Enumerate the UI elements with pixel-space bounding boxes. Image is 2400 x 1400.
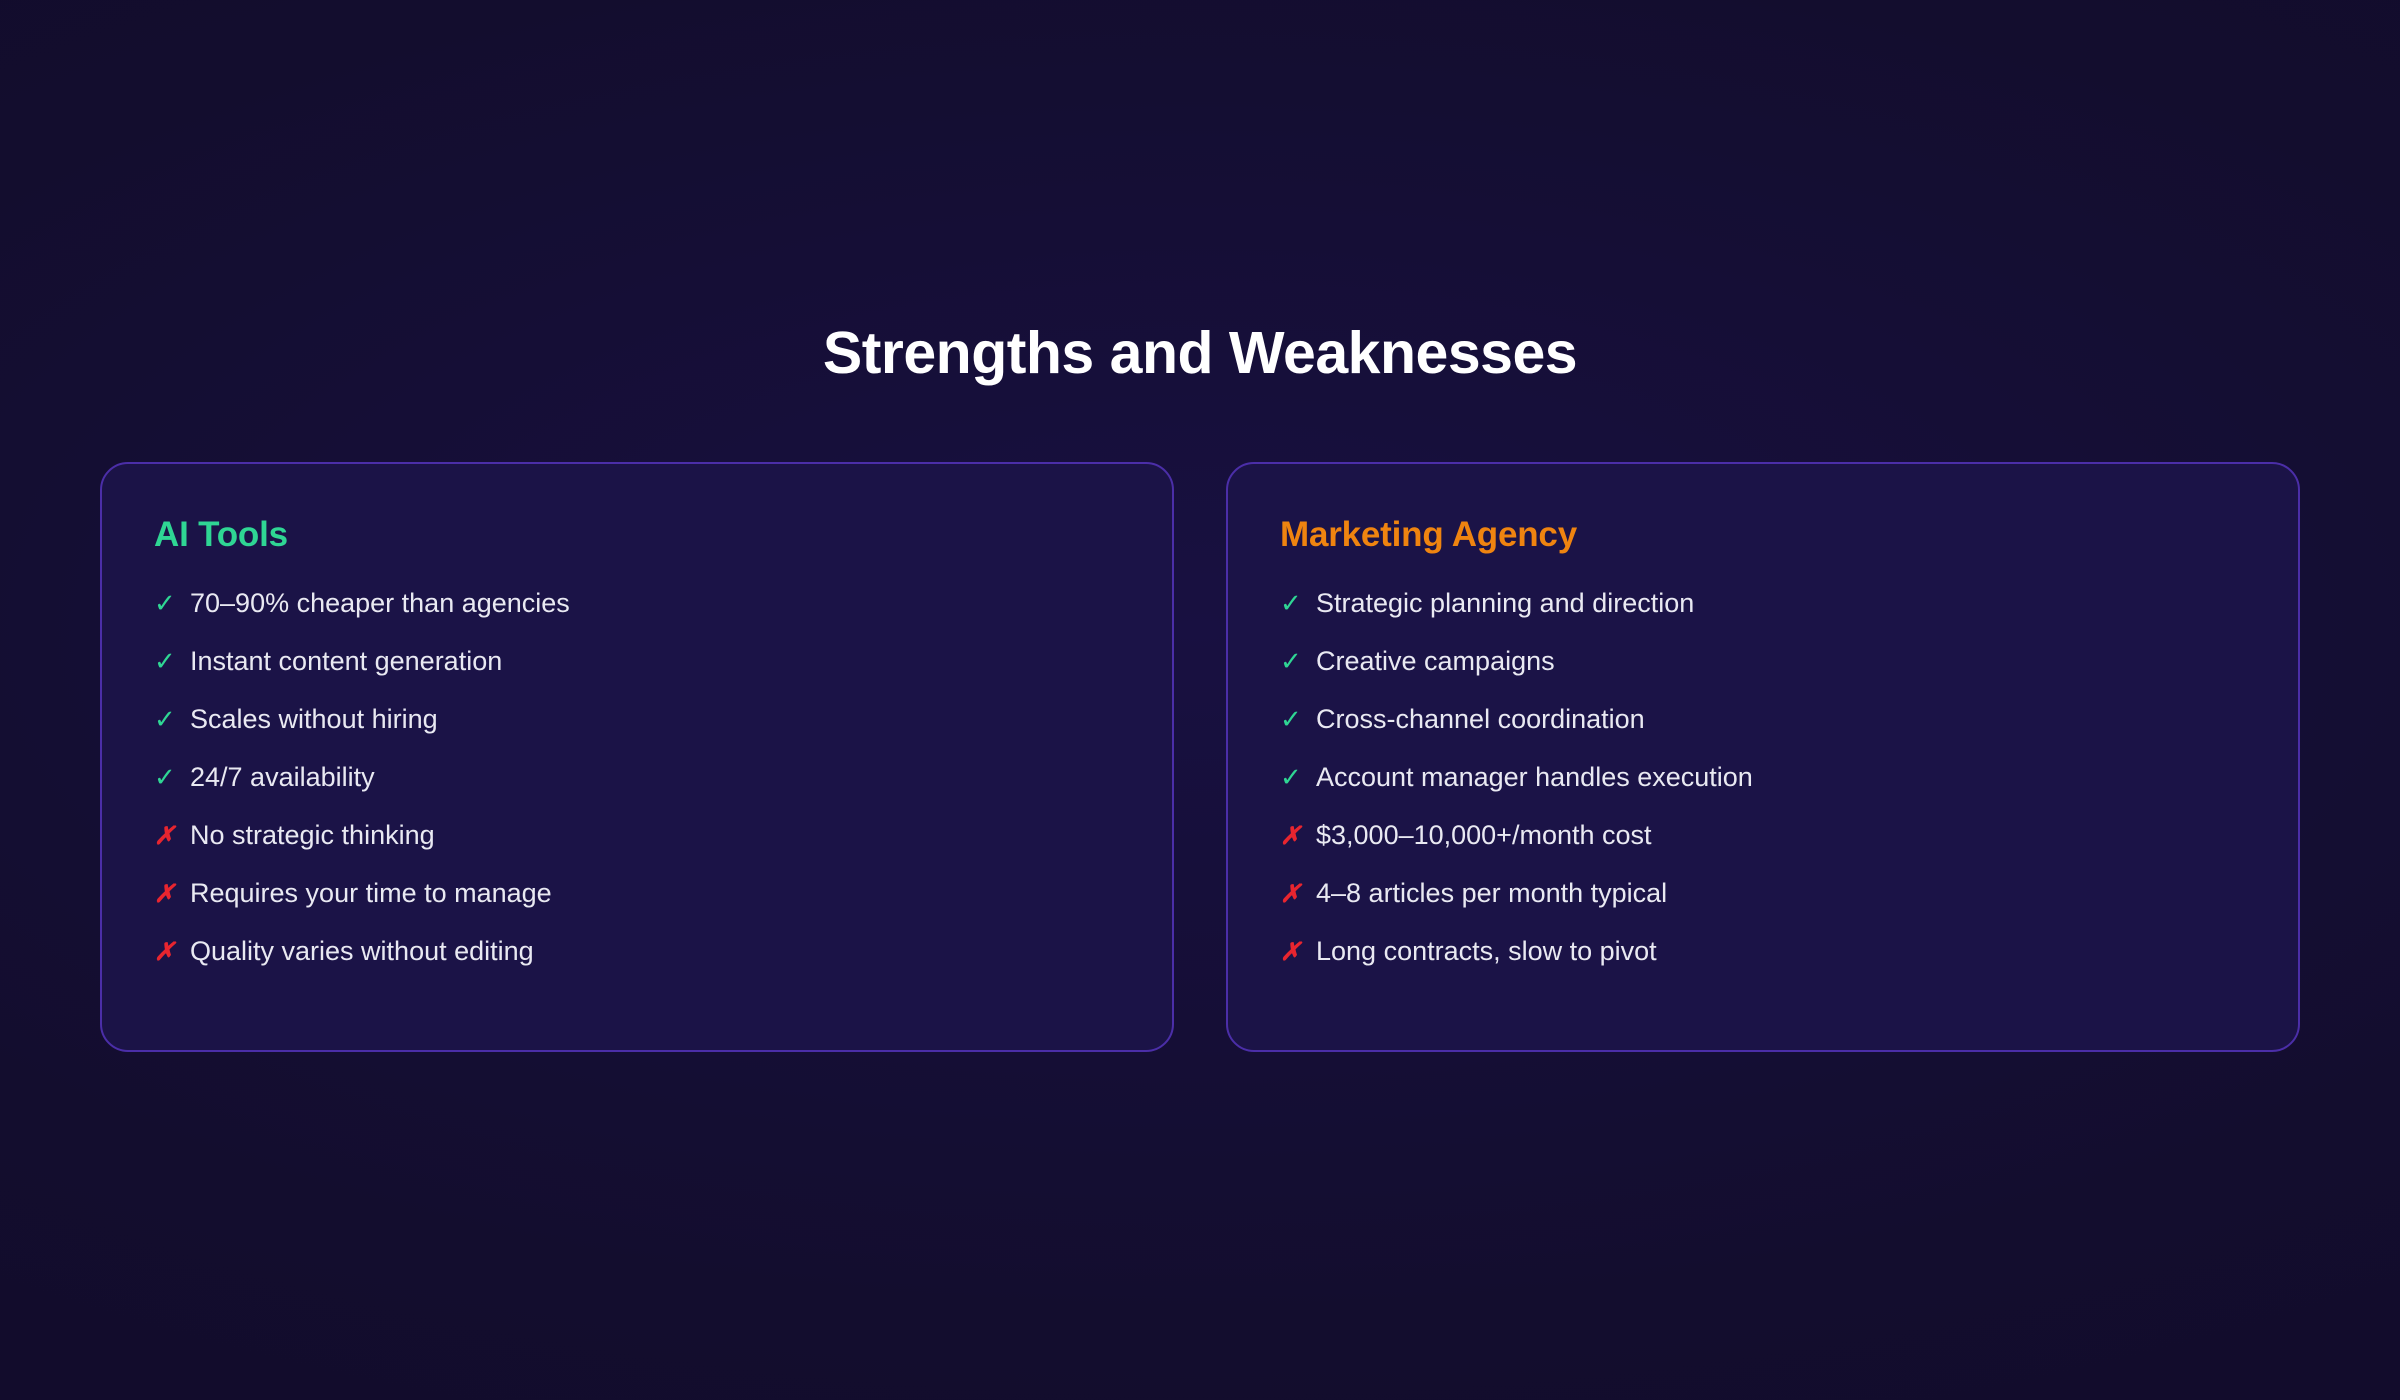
cross-icon: ✗ xyxy=(1280,940,1316,965)
list-item: ✓Scales without hiring xyxy=(154,706,1120,764)
list-item-label: No strategic thinking xyxy=(190,822,1120,849)
cross-icon: ✗ xyxy=(1280,882,1316,907)
list-item: ✗No strategic thinking xyxy=(154,822,1120,880)
check-icon: ✓ xyxy=(1280,648,1316,674)
list-item: ✗Long contracts, slow to pivot xyxy=(1280,938,2246,996)
list-item-label: 4–8 articles per month typical xyxy=(1316,880,2246,907)
comparison-cards-row: AI Tools ✓70–90% cheaper than agencies✓I… xyxy=(100,462,2300,1052)
list-item-label: $3,000–10,000+/month cost xyxy=(1316,822,2246,849)
list-item-label: Quality varies without editing xyxy=(190,938,1120,965)
cross-icon: ✗ xyxy=(154,824,190,849)
item-list-marketing-agency: ✓Strategic planning and direction✓Creati… xyxy=(1280,590,2246,996)
item-list-ai-tools: ✓70–90% cheaper than agencies✓Instant co… xyxy=(154,590,1120,996)
cross-icon: ✗ xyxy=(1280,824,1316,849)
page-title: Strengths and Weaknesses xyxy=(0,320,2400,388)
card-ai-tools: AI Tools ✓70–90% cheaper than agencies✓I… xyxy=(100,462,1174,1052)
check-icon: ✓ xyxy=(154,648,190,674)
cross-icon: ✗ xyxy=(154,940,190,965)
list-item-label: Long contracts, slow to pivot xyxy=(1316,938,2246,965)
list-item-label: Creative campaigns xyxy=(1316,648,2246,675)
card-marketing-agency: Marketing Agency ✓Strategic planning and… xyxy=(1226,462,2300,1052)
check-icon: ✓ xyxy=(154,764,190,790)
list-item-label: Scales without hiring xyxy=(190,706,1120,733)
list-item: ✓Account manager handles execution xyxy=(1280,764,2246,822)
list-item: ✗Quality varies without editing xyxy=(154,938,1120,996)
check-icon: ✓ xyxy=(154,590,190,616)
list-item: ✓Creative campaigns xyxy=(1280,648,2246,706)
list-item-label: 24/7 availability xyxy=(190,764,1120,791)
list-item-label: Cross-channel coordination xyxy=(1316,706,2246,733)
list-item: ✗Requires your time to manage xyxy=(154,880,1120,938)
list-item: ✓Cross-channel coordination xyxy=(1280,706,2246,764)
check-icon: ✓ xyxy=(1280,590,1316,616)
check-icon: ✓ xyxy=(154,706,190,732)
list-item-label: 70–90% cheaper than agencies xyxy=(190,590,1120,617)
list-item-label: Instant content generation xyxy=(190,648,1120,675)
list-item: ✗$3,000–10,000+/month cost xyxy=(1280,822,2246,880)
list-item-label: Account manager handles execution xyxy=(1316,764,2246,791)
card-title-marketing-agency: Marketing Agency xyxy=(1280,514,2246,556)
check-icon: ✓ xyxy=(1280,706,1316,732)
list-item-label: Strategic planning and direction xyxy=(1316,590,2246,617)
check-icon: ✓ xyxy=(1280,764,1316,790)
list-item: ✗4–8 articles per month typical xyxy=(1280,880,2246,938)
list-item: ✓24/7 availability xyxy=(154,764,1120,822)
card-title-ai-tools: AI Tools xyxy=(154,514,1120,556)
slide-root: Strengths and Weaknesses AI Tools ✓70–90… xyxy=(0,0,2400,1400)
list-item: ✓Instant content generation xyxy=(154,648,1120,706)
list-item-label: Requires your time to manage xyxy=(190,880,1120,907)
cross-icon: ✗ xyxy=(154,882,190,907)
list-item: ✓Strategic planning and direction xyxy=(1280,590,2246,648)
list-item: ✓70–90% cheaper than agencies xyxy=(154,590,1120,648)
